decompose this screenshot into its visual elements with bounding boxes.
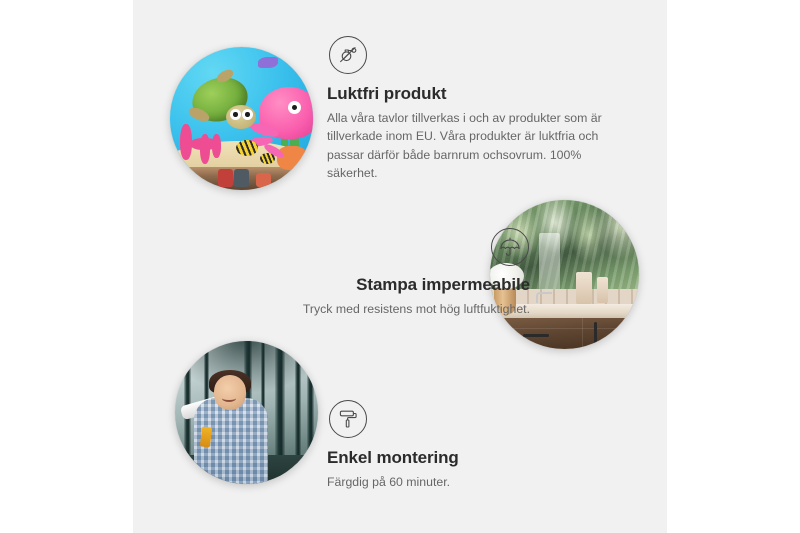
striped-fish	[260, 153, 275, 164]
shelf-object	[256, 173, 271, 187]
vanity-door-seam	[582, 318, 583, 349]
forest-wallpaper-photo	[175, 341, 318, 484]
feature-title: Stampa impermeabile	[193, 275, 530, 295]
screenshot-root: Luktfri produkt Alla våra tavlor tillver…	[0, 0, 800, 533]
feature-description: Färgdig på 60 minuter.	[327, 473, 607, 491]
cabinet-handle	[594, 322, 597, 344]
coral	[212, 134, 221, 158]
underwater-illustration	[170, 47, 313, 190]
feature-description: Alla våra tavlor tillverkas i och av pro…	[327, 109, 623, 181]
faucet	[536, 292, 552, 303]
no-odour-spray-bottle-icon	[329, 36, 367, 74]
shelf-object	[234, 169, 249, 187]
person-smile	[222, 394, 236, 402]
person-face	[214, 375, 247, 409]
striped-fish	[236, 140, 258, 156]
shelf-object	[218, 169, 233, 187]
sea-turtle-eye	[230, 109, 241, 120]
soap-bottle	[597, 277, 608, 303]
soap-bottle	[576, 272, 592, 304]
feature-waterproof-print: Stampa impermeabile Tryck med resistens …	[193, 228, 530, 318]
drawer-handle	[523, 334, 549, 337]
hand-tool	[200, 426, 212, 447]
paint-roller-icon	[329, 400, 367, 438]
feature-title: Luktfri produkt	[327, 84, 623, 104]
umbrella-icon	[491, 228, 529, 266]
sea-turtle-eye	[242, 109, 253, 120]
coral	[200, 134, 210, 164]
painter-forest-wallpaper-thumbnail[interactable]	[175, 341, 318, 484]
underwater-cartoon-mural-thumbnail[interactable]	[170, 47, 313, 190]
feature-panel: Luktfri produkt Alla våra tavlor tillver…	[133, 0, 667, 533]
feature-title: Enkel montering	[327, 448, 607, 468]
feature-easy-mounting: Enkel montering Färgdig på 60 minuter.	[327, 400, 607, 491]
octopus-eye	[288, 101, 301, 114]
starfish	[277, 146, 307, 170]
feature-description: Tryck med resistens mot hög luftfuktighe…	[193, 300, 530, 318]
purple-fish	[258, 57, 278, 68]
wooden-vanity	[502, 318, 639, 349]
vanity-drawer-seam	[505, 328, 639, 329]
feature-odour-free: Luktfri produkt Alla våra tavlor tillver…	[327, 36, 623, 182]
